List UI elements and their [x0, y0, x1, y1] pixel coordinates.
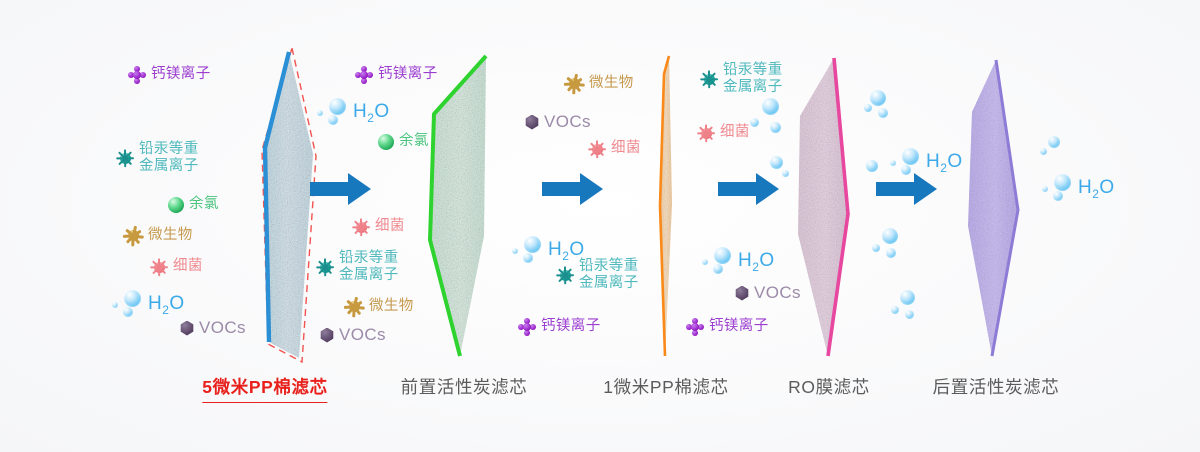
chip-vocs-s1: VOCs [180, 318, 246, 338]
water-bubble-icon [315, 96, 355, 130]
chip-label-line2: 金属离子 [579, 275, 639, 291]
ion-cluster-icon [128, 66, 146, 84]
heavy-metal-icon [116, 149, 134, 167]
filter-ro-membrane[interactable] [790, 56, 856, 360]
water-formula: H2O [926, 151, 963, 175]
chip-label: 微生物 [369, 298, 414, 315]
microorganism-icon [124, 226, 143, 245]
chip-bacteria-s3: 细菌 [588, 140, 641, 158]
caption-stage-4[interactable]: RO膜滤芯 [788, 374, 870, 399]
caption-stage-3[interactable]: 1微米PP棉滤芯 [603, 374, 728, 399]
filtration-diagram: 钙镁离子 铅汞等重金属离子 余氯 微生物 细菌 H2O VOCs [0, 0, 1200, 452]
chip-microorganism-s3: 微生物 [565, 74, 634, 93]
heavy-metal-icon [700, 70, 718, 88]
caption-text: 5微米PP棉滤芯 [202, 377, 327, 397]
chip-vocs-s3: VOCs [525, 112, 591, 132]
water-formula: H2O [1078, 177, 1115, 201]
ion-cluster-icon [518, 318, 536, 336]
chip-heavy-metal-s2: 铅汞等重金属离子 [316, 250, 399, 284]
filter-pre-activated-carbon[interactable] [424, 54, 496, 360]
chip-heavy-metal-s3: 铅汞等重金属离子 [556, 258, 639, 292]
chip-microorganism-s1: 微生物 [124, 226, 193, 245]
water-bubble-icon [888, 146, 928, 180]
ion-cluster-icon [686, 318, 704, 336]
chip-water-s2: H2O [315, 96, 390, 130]
chip-label-line2: 金属离子 [139, 158, 199, 174]
chlorine-sphere-icon [378, 134, 394, 150]
ion-cluster-icon [355, 66, 373, 84]
water-formula: H2O [148, 293, 185, 317]
chip-heavy-metal-s4: 铅汞等重金属离子 [700, 62, 783, 96]
heavy-metal-icon [556, 266, 574, 284]
chip-label-line1: 铅汞等重 [579, 258, 639, 274]
chip-label: 余氯 [189, 196, 219, 213]
chip-microorganism-s2: 微生物 [345, 297, 414, 316]
chip-heavy-metal-s1: 铅汞等重金属离子 [116, 141, 199, 175]
water-bubble-icon [700, 245, 740, 279]
chip-label-line1: 铅汞等重 [723, 62, 783, 78]
water-bubble-icon [1040, 172, 1080, 206]
bacteria-icon [150, 258, 168, 276]
chip-water-s5: H2O [888, 146, 963, 180]
chip-label: 细菌 [611, 140, 641, 157]
chip-water-s1: H2O [110, 288, 185, 322]
chip-label: 细菌 [720, 124, 750, 141]
chip-label-line2: 金属离子 [723, 79, 783, 95]
voc-hexagon-icon [180, 321, 194, 336]
chip-vocs-s2: VOCs [320, 325, 386, 345]
chip-label: 微生物 [148, 227, 193, 244]
caption-stage-1[interactable]: 5微米PP棉滤芯 [202, 374, 327, 403]
chip-bacteria-s4: 细菌 [697, 124, 750, 142]
chip-label: VOCs [199, 318, 246, 338]
chip-label: VOCs [339, 325, 386, 345]
chip-label: VOCs [544, 112, 591, 132]
chip-label-line1: 铅汞等重 [139, 141, 199, 157]
chip-bacteria-s1: 细菌 [150, 258, 203, 276]
chip-water-s4: H2O [700, 245, 775, 279]
microorganism-icon [345, 297, 364, 316]
flow-arrow-2 [542, 172, 604, 206]
voc-hexagon-icon [735, 286, 749, 301]
heavy-metal-icon [316, 258, 334, 276]
water-bubble-icon [110, 288, 150, 322]
microorganism-icon [565, 74, 584, 93]
chip-label: 钙镁离子 [709, 318, 769, 335]
filter-5um-pp-cotton[interactable] [263, 50, 319, 362]
chip-label-line2: 金属离子 [339, 267, 399, 283]
filter-post-activated-carbon[interactable] [962, 58, 1026, 360]
water-formula: H2O [738, 250, 775, 274]
flow-arrow-1 [310, 172, 372, 206]
chip-label: 细菌 [173, 258, 203, 275]
caption-text: 后置活性炭滤芯 [933, 377, 1060, 397]
flow-arrow-3 [718, 172, 780, 206]
chip-calcium-magnesium-ion-s1: 钙镁离子 [128, 66, 211, 84]
chip-residual-chlorine-s2: 余氯 [378, 133, 429, 150]
chip-label-line1: 铅汞等重 [339, 250, 399, 266]
chip-label: 细菌 [375, 218, 405, 235]
bacteria-icon [697, 124, 715, 142]
filter-1um-pp-cotton[interactable] [655, 54, 681, 360]
caption-text: 1微米PP棉滤芯 [603, 377, 728, 397]
chip-bacteria-s2: 细菌 [352, 218, 405, 236]
caption-stage-5[interactable]: 后置活性炭滤芯 [933, 374, 1060, 399]
chlorine-sphere-icon [168, 197, 184, 213]
chip-label: 钙镁离子 [541, 318, 601, 335]
caption-text: RO膜滤芯 [788, 377, 870, 397]
chip-calcium-magnesium-ion-s3: 钙镁离子 [518, 318, 601, 336]
chip-label: 微生物 [589, 75, 634, 92]
bacteria-icon [588, 140, 606, 158]
chip-residual-chlorine-s1: 余氯 [168, 196, 219, 213]
active-underline [202, 402, 327, 403]
water-bubble-icon [510, 234, 550, 268]
voc-hexagon-icon [525, 115, 539, 130]
caption-text: 前置活性炭滤芯 [401, 377, 528, 397]
chip-label: 钙镁离子 [151, 66, 211, 83]
bacteria-icon [352, 218, 370, 236]
voc-hexagon-icon [320, 328, 334, 343]
water-formula: H2O [353, 101, 390, 125]
chip-calcium-magnesium-ion-s4: 钙镁离子 [686, 318, 769, 336]
caption-stage-2[interactable]: 前置活性炭滤芯 [401, 374, 528, 399]
chip-water-outlet: H2O [1040, 172, 1115, 206]
